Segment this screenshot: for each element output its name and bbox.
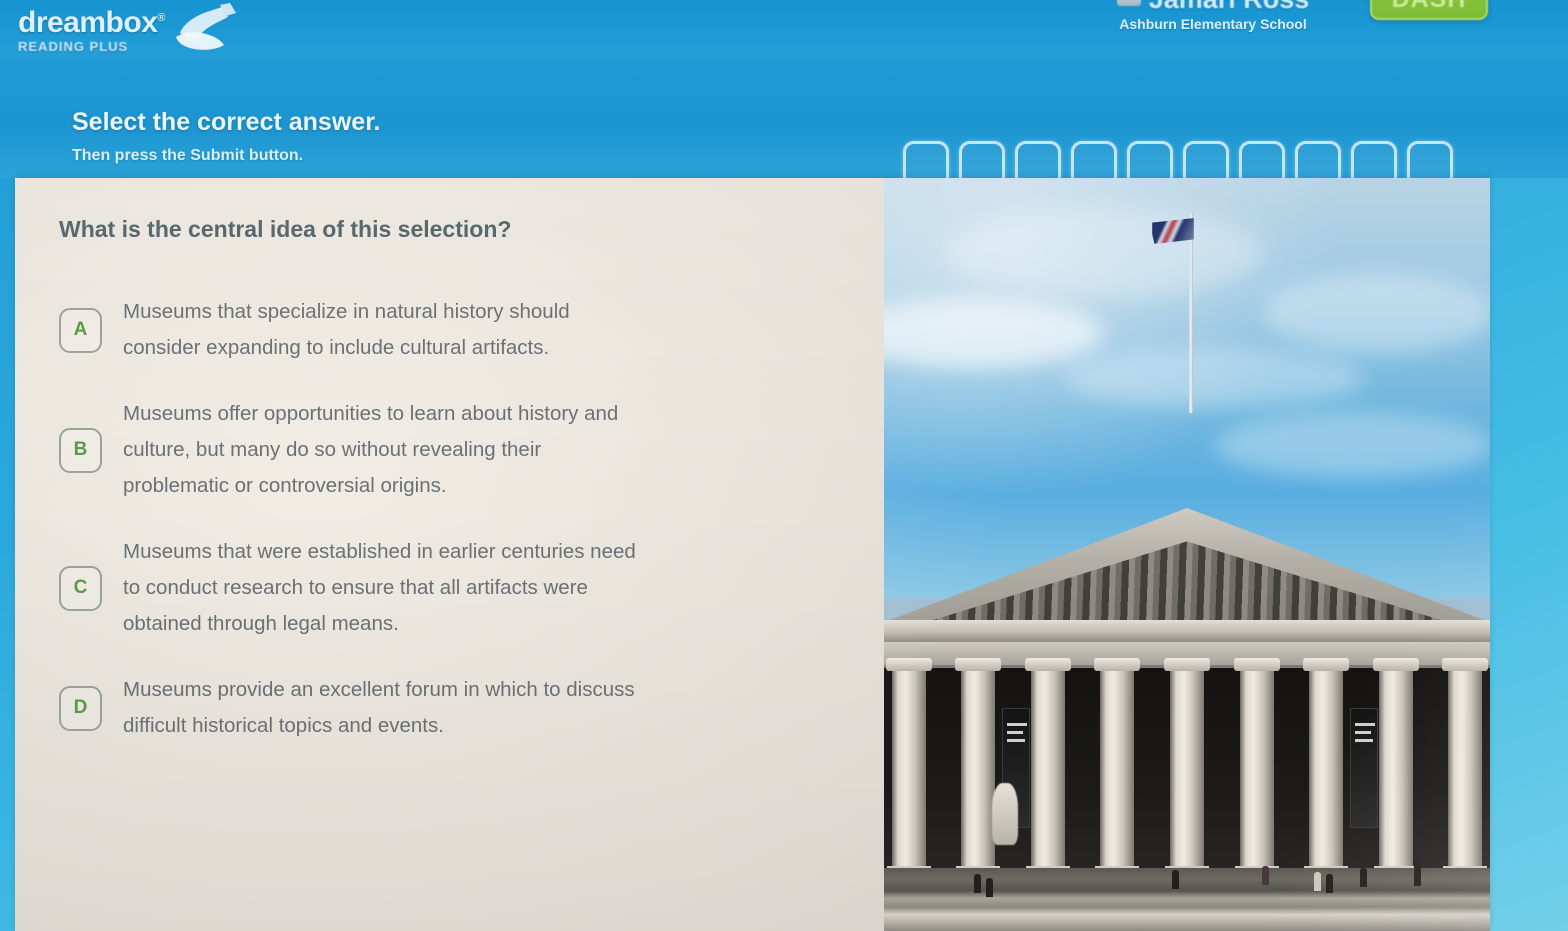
answer-choice-d[interactable]: D Museums provide an excellent forum in … — [59, 672, 859, 744]
app-screen: dreambox® READING PLUS Jamari Ross Ashbu… — [0, 0, 1568, 931]
answer-choice-list: A Museums that specialize in natural his… — [59, 294, 859, 774]
choice-c-line-3: obtained through legal means. — [123, 606, 636, 642]
choice-b-line-3: problematic or controversial origins. — [123, 468, 618, 504]
cloud-shape — [1264, 273, 1490, 353]
ionic-column — [1100, 668, 1134, 868]
user-avatar-icon — [1117, 0, 1141, 6]
ionic-column — [1240, 668, 1274, 868]
dash-button[interactable]: DASH — [1370, 0, 1488, 20]
visitor-figure — [974, 874, 981, 893]
pediment-sculpture-frieze — [914, 534, 1460, 626]
british-museum-photo — [884, 178, 1490, 931]
trademark-symbol: ® — [157, 12, 165, 24]
ionic-column — [892, 668, 926, 868]
ionic-column — [1309, 668, 1343, 868]
dreambox-logo[interactable]: dreambox® READING PLUS — [18, 3, 233, 55]
choice-c-line-1: Museums that were established in earlier… — [123, 534, 636, 570]
instruction-secondary-text: Then press the Submit button. — [72, 147, 303, 165]
choice-c-line-2: to conduct research to ensure that all a… — [123, 570, 636, 606]
cornice — [884, 620, 1490, 642]
exhibition-banner — [1350, 708, 1378, 828]
entrance-steps — [884, 868, 1490, 931]
choice-letter-badge-b[interactable]: B — [59, 428, 102, 473]
choice-text-b: Museums offer opportunities to learn abo… — [123, 396, 618, 504]
user-identity-block[interactable]: Jamari Ross Ashburn Elementary School — [1063, 0, 1363, 32]
choice-letter-badge-a[interactable]: A — [59, 308, 102, 353]
colonnade — [884, 668, 1490, 868]
ionic-column — [1170, 668, 1204, 868]
visitor-figure — [1326, 874, 1333, 893]
instruction-band: Select the correct answer. Then press th… — [0, 60, 1568, 178]
visitor-figure — [1360, 868, 1367, 887]
cloud-shape — [1214, 413, 1490, 478]
ionic-column — [961, 668, 995, 868]
choice-letter-badge-d[interactable]: D — [59, 686, 102, 731]
choice-a-line-2: consider expanding to include cultural a… — [123, 330, 570, 366]
answer-choice-a[interactable]: A Museums that specialize in natural his… — [59, 294, 859, 366]
top-navigation-bar: dreambox® READING PLUS Jamari Ross Ashbu… — [0, 0, 1568, 60]
cloud-shape — [1064, 348, 1364, 408]
hand-holding-book-icon — [170, 3, 242, 53]
page-title: What is the central idea of this selecti… — [59, 216, 839, 243]
choice-text-d: Museums provide an excellent forum in wh… — [123, 672, 635, 744]
ionic-column — [1379, 668, 1413, 868]
visitor-figure — [986, 878, 993, 897]
cloud-shape — [944, 208, 1264, 298]
choice-d-line-1: Museums provide an excellent forum in wh… — [123, 672, 635, 708]
choice-b-line-2: culture, but many do so without revealin… — [123, 432, 618, 468]
visitor-figure — [1172, 870, 1179, 889]
visitor-figure — [1314, 872, 1321, 891]
visitor-figure — [1414, 860, 1421, 886]
choice-a-line-1: Museums that specialize in natural histo… — [123, 294, 570, 330]
illustration-pane — [884, 178, 1490, 931]
content-panel: What is the central idea of this selecti… — [15, 178, 1490, 931]
choice-text-a: Museums that specialize in natural histo… — [123, 294, 570, 366]
user-name: Jamari Ross — [1149, 0, 1310, 15]
choice-d-line-2: difficult historical topics and events. — [123, 708, 635, 744]
ionic-column — [1448, 668, 1482, 868]
entrance-statue — [992, 783, 1018, 845]
answer-choice-c[interactable]: C Museums that were established in earli… — [59, 534, 859, 642]
visitor-figure — [1262, 866, 1269, 885]
school-name: Ashburn Elementary School — [1063, 16, 1363, 32]
question-pane: What is the central idea of this selecti… — [15, 178, 884, 931]
instruction-primary-text: Select the correct answer. — [72, 108, 380, 137]
museum-building — [884, 508, 1490, 931]
answer-choice-b[interactable]: B Museums offer opportunities to learn a… — [59, 396, 859, 504]
ionic-column — [1031, 668, 1065, 868]
choice-b-line-1: Museums offer opportunities to learn abo… — [123, 396, 618, 432]
choice-letter-badge-c[interactable]: C — [59, 566, 102, 611]
choice-text-c: Museums that were established in earlier… — [123, 534, 636, 642]
flagpole — [1189, 213, 1193, 413]
